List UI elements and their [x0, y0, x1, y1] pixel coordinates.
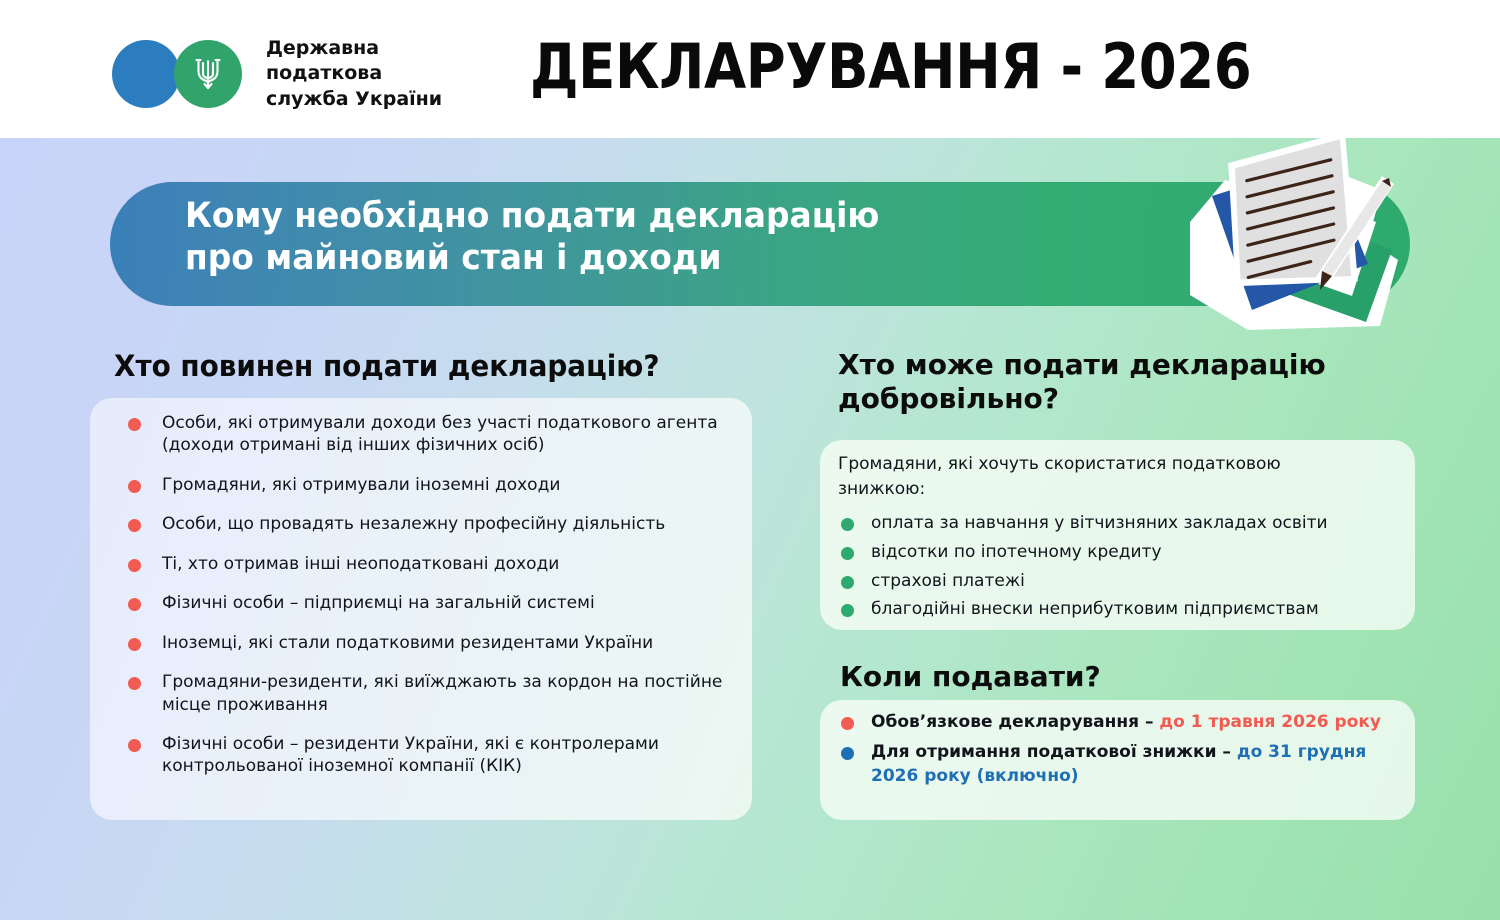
- must-declare-item: Особи, що провадять незалежну професійну…: [124, 513, 734, 535]
- left-column-heading: Хто повинен подати декларацію?: [114, 350, 767, 383]
- voluntary-item: благодійні внески неприбутковим підприєм…: [838, 598, 1408, 621]
- logo-blue-circle-icon: [112, 40, 180, 108]
- voluntary-item: страхові платежі: [838, 570, 1408, 593]
- voluntary-list: оплата за навчання у вітчизняних заклада…: [838, 512, 1408, 627]
- must-declare-item: Громадяни-резиденти, які виїжджають за к…: [124, 671, 734, 716]
- when-item-deadline: до 1 травня 2026 року: [1159, 712, 1381, 732]
- when-item-label: Для отримання податкової знижки –: [871, 742, 1237, 762]
- infographic-page: Державна податкова служба України ДЕКЛАР…: [0, 0, 1500, 920]
- must-declare-item: Ті, хто отримав інші неоподатковані дохо…: [124, 553, 734, 575]
- must-declare-list: Особи, які отримували доходи без участі …: [124, 412, 734, 795]
- must-declare-item: Особи, які отримували доходи без участі …: [124, 412, 734, 457]
- must-declare-item: Фізичні особи – підприємці на загальній …: [124, 592, 734, 614]
- voluntary-item: оплата за навчання у вітчизняних заклада…: [838, 512, 1408, 535]
- when-item: Для отримання податкової знижки – до 31 …: [838, 740, 1408, 789]
- when-list: Обов’язкове декларування – до 1 травня 2…: [838, 710, 1408, 794]
- voluntary-heading: Хто може подати декларацію добровільно?: [838, 348, 1418, 415]
- when-item: Обов’язкове декларування – до 1 травня 2…: [838, 710, 1408, 735]
- documents-and-pen-illustration: [1130, 130, 1450, 350]
- organization-name: Державна податкова служба України: [266, 36, 442, 112]
- trident-icon: [192, 54, 224, 94]
- page-title: ДЕКЛАРУВАННЯ - 2026: [530, 36, 1304, 98]
- main-banner-text: Кому необхідно подати декларацію про май…: [185, 195, 1078, 279]
- when-heading: Коли подавати?: [840, 660, 1400, 694]
- must-declare-item: Громадяни, які отримували іноземні доход…: [124, 474, 734, 496]
- voluntary-intro-text: Громадяни, які хочуть скористатися подат…: [838, 452, 1398, 501]
- when-item-label: Обов’язкове декларування –: [871, 712, 1159, 732]
- header-bar: Державна податкова служба України ДЕКЛАР…: [0, 0, 1500, 138]
- logo-marks: [112, 40, 262, 108]
- must-declare-item: Іноземці, які стали податковими резидент…: [124, 632, 734, 654]
- must-declare-item: Фізичні особи – резиденти України, які є…: [124, 733, 734, 778]
- voluntary-item: відсотки по іпотечному кредиту: [838, 541, 1408, 564]
- organization-logo: Державна податкова служба України: [112, 36, 442, 112]
- logo-green-circle-icon: [174, 40, 242, 108]
